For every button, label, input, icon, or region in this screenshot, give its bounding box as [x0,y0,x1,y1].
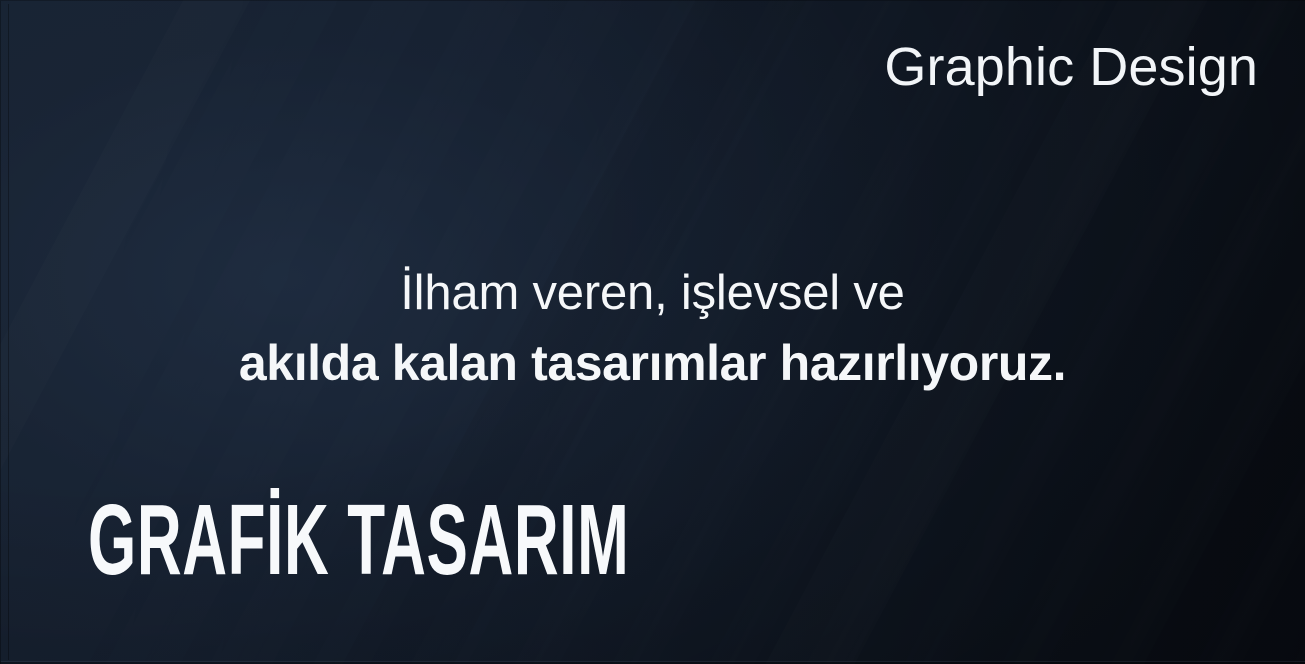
eyebrow-label: Graphic Design [884,40,1258,94]
headline: İlham veren, işlevsel ve akılda kalan ta… [0,258,1305,398]
graphic-design-banner: Graphic Design İlham veren, işlevsel ve … [0,0,1305,664]
headline-line-1: İlham veren, işlevsel ve [0,258,1305,328]
wordmark-grafik-tasarim: GRAFİK TASARIM [88,490,629,590]
headline-line-2: akılda kalan tasarımlar hazırlıyoruz. [0,328,1305,398]
banner-content: Graphic Design İlham veren, işlevsel ve … [0,0,1305,664]
